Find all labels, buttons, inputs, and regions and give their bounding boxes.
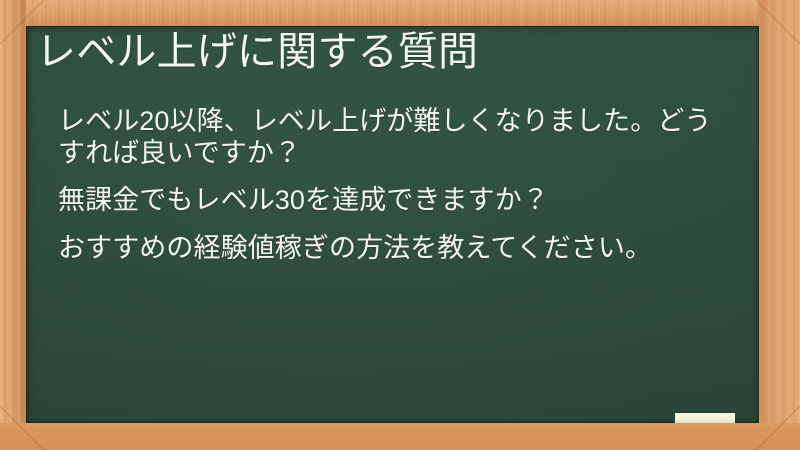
frame-bottom-ledge: [0, 423, 800, 450]
frame-top-rail: [0, 0, 800, 26]
blackboard-slide: レベル上げに関する質問 レベル20以降、レベル上げが難しくなりました。どうすれば…: [0, 0, 800, 450]
question-list: レベル20以降、レベル上げが難しくなりました。どうすれば良いですか？ 無課金でも…: [58, 106, 730, 264]
frame-left-rail: [0, 0, 26, 450]
list-item: 無課金でもレベル30を達成できますか？: [58, 185, 730, 217]
list-item: レベル20以降、レベル上げが難しくなりました。どうすれば良いですか？: [58, 106, 730, 169]
slide-title: レベル上げに関する質問: [36, 30, 736, 76]
chalk-stick: [675, 413, 735, 423]
blackboard-surface: レベル上げに関する質問 レベル20以降、レベル上げが難しくなりました。どうすれば…: [26, 26, 759, 423]
blackboard-content: レベル上げに関する質問 レベル20以降、レベル上げが難しくなりました。どうすれば…: [26, 26, 759, 423]
frame-right-rail: [758, 0, 800, 450]
list-item: おすすめの経験値稼ぎの方法を教えてください。: [58, 233, 730, 265]
